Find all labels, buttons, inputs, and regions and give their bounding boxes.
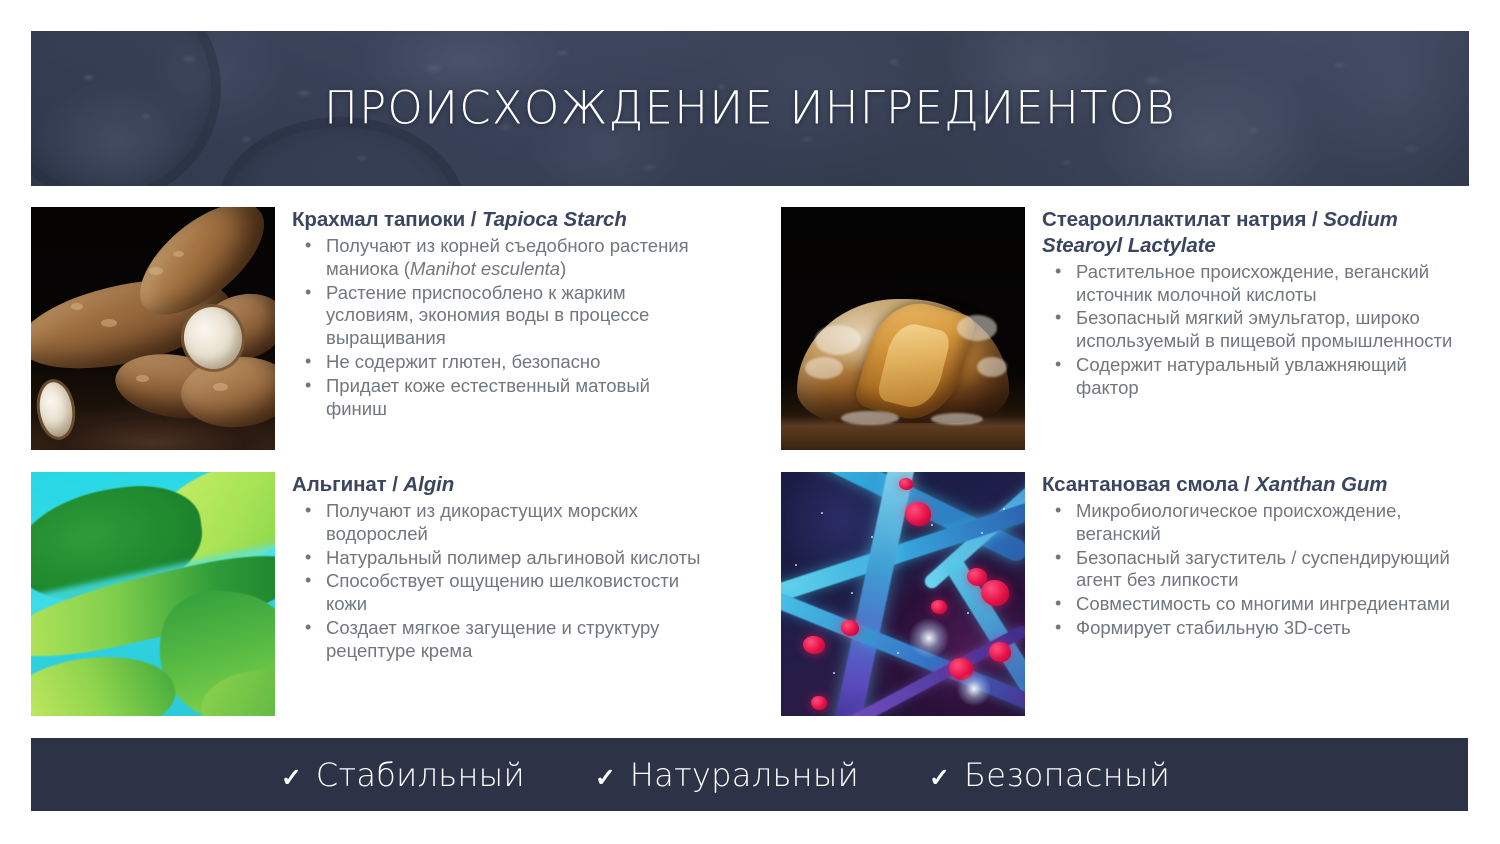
list-item: Не содержит глютен, безопасно: [292, 351, 712, 374]
list-item: Растение приспособлено к жарким условиям…: [292, 282, 712, 351]
check-icon: ✓: [281, 766, 302, 791]
ingredient-text-algin: Альгинат / Algin Получают из дикорастущи…: [292, 472, 712, 664]
list-item: Содержит натуральный увлажняющий фактор: [1042, 354, 1462, 400]
ingredient-title: Крахмал тапиоки / Tapioca Starch: [292, 207, 712, 233]
list-item: Формирует стабильную 3D-сеть: [1042, 617, 1462, 640]
claim-stable: ✓ Стабильный: [281, 756, 525, 794]
check-icon: ✓: [595, 766, 616, 791]
slide-title: ПРОИСХОЖДЕНИЕ ИНГРЕДИЕНТОВ: [31, 81, 1469, 134]
ingredient-text-tapioca: Крахмал тапиоки / Tapioca Starch Получаю…: [292, 207, 712, 422]
ingredient-title: Ксантановая смола / Xanthan Gum: [1042, 472, 1462, 498]
list-item: Создает мягкое загущение и структуру рец…: [292, 617, 712, 663]
check-icon: ✓: [929, 766, 950, 791]
claim-label: Безопасный: [964, 756, 1170, 794]
list-item: Способствует ощущению шелковистости кожи: [292, 570, 712, 616]
ingredient-text-xanthan-gum: Ксантановая смола / Xanthan Gum Микробио…: [1042, 472, 1462, 641]
ingredient-card-xanthan-gum: Ксантановая смола / Xanthan Gum Микробио…: [781, 472, 1462, 716]
cassava-roots-photo: [31, 207, 275, 450]
header-banner: ПРОИСХОЖДЕНИЕ ИНГРЕДИЕНТОВ: [31, 31, 1469, 186]
sourdough-bread-photo: [781, 207, 1025, 450]
list-item: Получают из дикорастущих морских водорос…: [292, 500, 712, 546]
microbial-network-photo: [781, 472, 1025, 716]
ingredient-card-tapioca: Крахмал тапиоки / Tapioca Starch Получаю…: [31, 207, 712, 450]
list-item: Безопасный мягкий эмульгатор, широко исп…: [1042, 307, 1462, 353]
list-item: Растительное происхождение, веганский ис…: [1042, 261, 1462, 307]
list-item: Придает коже естественный матовый финиш: [292, 375, 712, 421]
list-item: Совместимость со многими ингредиентами: [1042, 593, 1462, 616]
claim-label: Натуральный: [630, 756, 859, 794]
list-item: Натуральный полимер альгиновой кислоты: [292, 547, 712, 570]
ingredient-bullet-list: Получают из дикорастущих морских водорос…: [292, 500, 712, 663]
claim-safe: ✓ Безопасный: [929, 756, 1170, 794]
ingredient-bullet-list: Получают из корней съедобного растения м…: [292, 235, 712, 421]
ingredient-text-sodium-stearoyl-lactylate: Стеароиллактилат натрия / Sodium Stearoy…: [1042, 207, 1462, 401]
ingredient-grid: Крахмал тапиоки / Tapioca Starch Получаю…: [31, 207, 1469, 717]
claims-footer-bar: ✓ Стабильный ✓ Натуральный ✓ Безопасный: [31, 738, 1468, 811]
ingredient-bullet-list: Микробиологическое происхождение, веганс…: [1042, 500, 1462, 640]
ingredient-title: Альгинат / Algin: [292, 472, 712, 498]
ingredient-bullet-list: Растительное происхождение, веганский ис…: [1042, 261, 1462, 400]
ingredient-title: Стеароиллактилат натрия / Sodium Stearoy…: [1042, 207, 1462, 259]
list-item: Получают из корней съедобного растения м…: [292, 235, 712, 281]
claim-natural: ✓ Натуральный: [595, 756, 859, 794]
list-item: Микробиологическое происхождение, веганс…: [1042, 500, 1462, 546]
list-item: Безопасный загуститель / суспендирующий …: [1042, 547, 1462, 593]
ingredient-card-algin: Альгинат / Algin Получают из дикорастущи…: [31, 472, 712, 716]
kelp-seaweed-photo: [31, 472, 275, 716]
claim-label: Стабильный: [316, 756, 525, 794]
ingredient-card-sodium-stearoyl-lactylate: Стеароиллактилат натрия / Sodium Stearoy…: [781, 207, 1462, 450]
